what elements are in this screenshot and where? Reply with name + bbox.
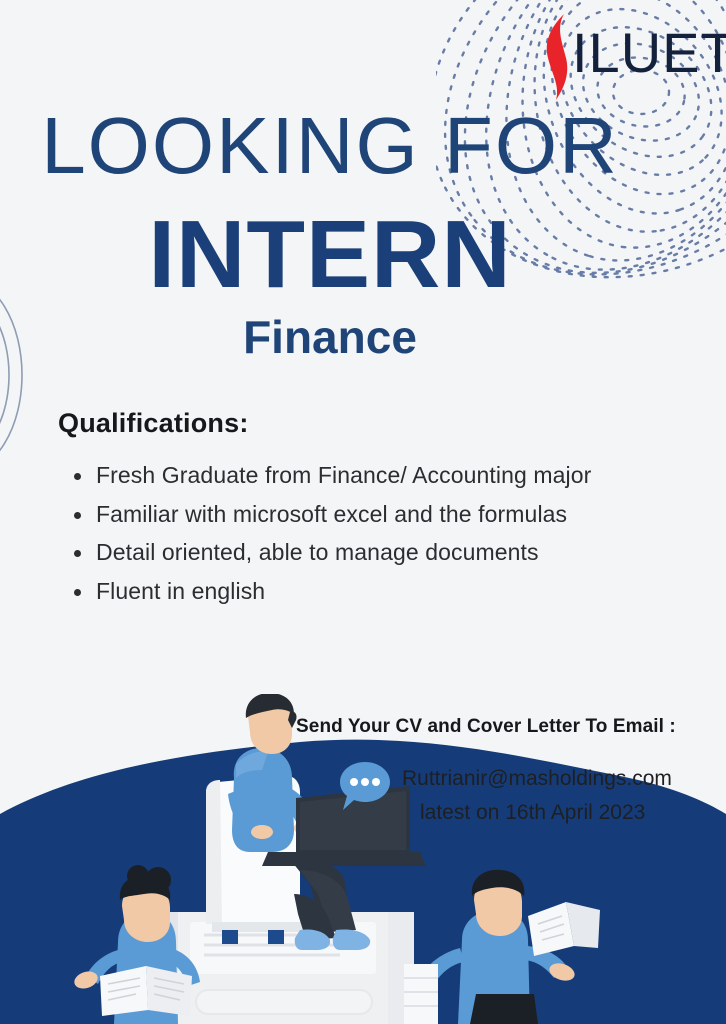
job-poster: ILUETA LOOKING FOR INTERN Finance Qualif…: [0, 0, 726, 1024]
contact-title: Send Your CV and Cover Letter To Email :: [296, 716, 696, 738]
qualification-item: Fresh Graduate from Finance/ Accounting …: [96, 456, 668, 495]
company-logo: ILUETA: [530, 8, 726, 104]
qualification-item: Detail oriented, able to manage document…: [96, 533, 668, 572]
qualification-item: Familiar with microsoft excel and the fo…: [96, 495, 668, 534]
contact-details: Ruttrianir@masholdings.com latest on 16t…: [296, 762, 696, 830]
headline-department: Finance: [0, 312, 660, 363]
headline-block: LOOKING FOR INTERN Finance: [0, 104, 660, 363]
contact-email[interactable]: Ruttrianir@masholdings.com: [402, 762, 696, 796]
headline-role: INTERN: [0, 203, 660, 307]
contact-section: Send Your CV and Cover Letter To Email :…: [296, 716, 696, 830]
headline-looking-for: LOOKING FOR: [0, 104, 660, 189]
qualifications-section: Qualifications: Fresh Graduate from Fina…: [58, 408, 668, 611]
qualifications-list: Fresh Graduate from Finance/ Accounting …: [58, 456, 668, 611]
logo-wordmark: ILUETA: [572, 25, 726, 81]
qualifications-title: Qualifications:: [58, 408, 668, 439]
contact-deadline: latest on 16th April 2023: [402, 796, 696, 830]
qualification-item: Fluent in english: [96, 572, 668, 611]
